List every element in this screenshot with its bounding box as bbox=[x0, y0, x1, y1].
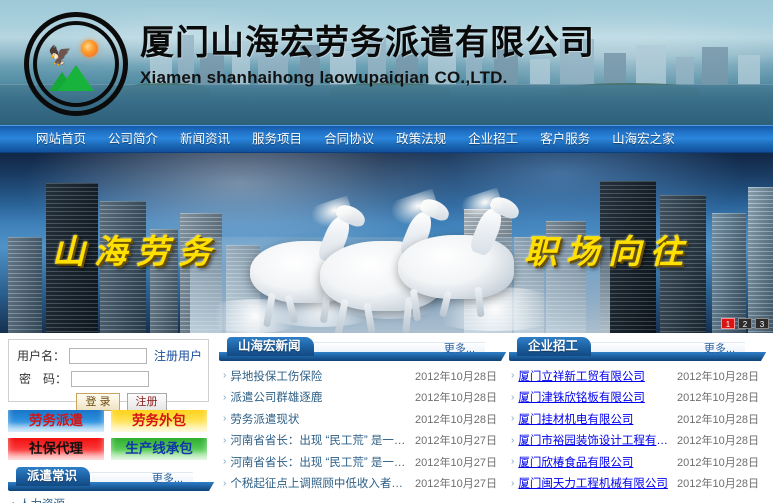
main-navigation: 网站首页 公司简介 新闻资讯 服务项目 合同协议 政策法规 企业招工 客户服务 … bbox=[0, 125, 773, 153]
table-row[interactable]: › 厦门立祥新工贸有限公司 2012年10月28日 bbox=[511, 365, 759, 387]
bullet-arrow-icon: › bbox=[12, 499, 16, 503]
knowledge-section-title: 派遣常识 bbox=[16, 467, 90, 486]
skyline-building bbox=[702, 47, 728, 87]
password-label: 密 码： bbox=[15, 370, 67, 387]
news-item-date: 2012年10月27日 bbox=[415, 432, 497, 448]
banner-building bbox=[8, 237, 42, 333]
bullet-arrow-icon: › bbox=[511, 370, 514, 381]
login-buttons: 登 录 注册 bbox=[15, 393, 202, 411]
table-row[interactable]: › 河南省省长：出现 “民工荒” 是一件好事 2012年10月27日 bbox=[223, 430, 497, 452]
login-panel: 用户名： 注册用户 密 码： 登 录 注册 bbox=[8, 339, 209, 402]
job-item-date: 2012年10月28日 bbox=[677, 368, 759, 384]
banner-slogan-right: 职场向往 bbox=[524, 225, 692, 273]
site-title-en: Xiamen shanhaihong laowupaiqian CO.,LTD. bbox=[140, 66, 595, 90]
table-row[interactable]: › 厦门欣椿食品有限公司 2012年10月28日 bbox=[511, 451, 759, 473]
news-item-date: 2012年10月28日 bbox=[415, 411, 497, 427]
bullet-arrow-icon: › bbox=[223, 392, 226, 403]
job-item-date: 2012年10月28日 bbox=[677, 389, 759, 405]
nav-item-services[interactable]: 服务项目 bbox=[241, 125, 313, 153]
news-section-title: 山海宏新闻 bbox=[227, 337, 314, 356]
main-content: 用户名： 注册用户 密 码： 登 录 注册 劳务派遣 劳务外包 社保代理 生产线… bbox=[0, 333, 773, 503]
nav-item-home[interactable]: 网站首页 bbox=[25, 125, 97, 153]
table-row[interactable]: › 个税起征点上调照顾中低收入者待遇 2012年10月27日 bbox=[223, 473, 497, 495]
eagle-icon: 🦅 bbox=[48, 47, 80, 67]
left-sidebar: 用户名： 注册用户 密 码： 登 录 注册 劳务派遣 劳务外包 社保代理 生产线… bbox=[0, 333, 215, 503]
register-button[interactable]: 注册 bbox=[127, 393, 167, 411]
slide-indicator-2[interactable]: 2 bbox=[738, 318, 752, 329]
service-button-insurance[interactable]: 社保代理 bbox=[8, 438, 104, 460]
news-more-link[interactable]: 更多... bbox=[444, 340, 475, 356]
job-item-title[interactable]: 厦门闽天力工程机械有限公司 bbox=[518, 475, 669, 491]
nav-item-news[interactable]: 新闻资讯 bbox=[169, 125, 241, 153]
knowledge-more-link[interactable]: 更多... bbox=[152, 470, 183, 486]
slide-indicator-1[interactable]: 1 bbox=[721, 318, 735, 329]
knowledge-list: › 人力资源 bbox=[8, 493, 209, 503]
nav-item-recruit[interactable]: 企业招工 bbox=[457, 125, 529, 153]
company-logo: 🦅 bbox=[24, 12, 128, 116]
banner-slogan-left: 山海劳务 bbox=[52, 225, 220, 273]
service-buttons: 劳务派遣 劳务外包 社保代理 生产线承包 bbox=[8, 410, 209, 460]
news-item-title[interactable]: 派遣公司群雄逐鹿 bbox=[230, 389, 407, 405]
news-item-title[interactable]: 劳务派遣现状 bbox=[230, 411, 407, 427]
bullet-arrow-icon: › bbox=[511, 435, 514, 446]
job-item-date: 2012年10月28日 bbox=[677, 411, 759, 427]
table-row[interactable]: › 劳务派遣现状 2012年10月28日 bbox=[223, 408, 497, 430]
service-button-outsourcing[interactable]: 劳务外包 bbox=[111, 410, 207, 432]
username-row: 用户名： 注册用户 bbox=[15, 347, 202, 364]
news-item-title[interactable]: 河南省省长：出现 “民工荒” 是一件好事 bbox=[230, 432, 407, 448]
job-item-title[interactable]: 厦门立祥新工贸有限公司 bbox=[518, 368, 669, 384]
jobs-more-link[interactable]: 更多... bbox=[704, 340, 735, 356]
password-input[interactable] bbox=[71, 371, 149, 387]
bullet-arrow-icon: › bbox=[223, 413, 226, 424]
bullet-arrow-icon: › bbox=[223, 478, 226, 489]
table-row[interactable]: › 河南省省长：出现 “民工荒” 是一件好事 2012年10月27日 bbox=[223, 451, 497, 473]
news-item-date: 2012年10月27日 bbox=[415, 475, 497, 491]
knowledge-item-title: 人力资源 bbox=[19, 499, 65, 503]
knowledge-section-header: 派遣常识 更多... bbox=[8, 467, 209, 491]
jobs-section-title: 企业招工 bbox=[517, 337, 591, 356]
nav-item-policies[interactable]: 政策法规 bbox=[385, 125, 457, 153]
nav-item-contracts[interactable]: 合同协议 bbox=[313, 125, 385, 153]
site-titles: 厦门山海宏劳务派遣有限公司 Xiamen shanhaihong laowupa… bbox=[140, 22, 595, 90]
bullet-arrow-icon: › bbox=[511, 456, 514, 467]
news-item-date: 2012年10月28日 bbox=[415, 368, 497, 384]
job-item-title[interactable]: 厦门市裕园装饰设计工程有限公司 bbox=[518, 432, 669, 448]
list-item[interactable]: › 人力资源 bbox=[12, 496, 205, 503]
bullet-arrow-icon: › bbox=[223, 435, 226, 446]
table-row[interactable]: › 厦门津铢欣铭板有限公司 2012年10月28日 bbox=[511, 387, 759, 409]
skyline-building bbox=[636, 45, 666, 87]
table-row[interactable]: › 异地投保工伤保险 2012年10月28日 bbox=[223, 365, 497, 387]
news-item-date: 2012年10月27日 bbox=[415, 454, 497, 470]
skyline-building bbox=[604, 53, 626, 87]
job-item-title[interactable]: 厦门挂材机电有限公司 bbox=[518, 411, 669, 427]
banner-building bbox=[748, 187, 773, 333]
table-row[interactable]: › 厦门闽天力工程机械有限公司 2012年10月28日 bbox=[511, 473, 759, 495]
sun-icon bbox=[81, 40, 98, 57]
skyline-building bbox=[676, 57, 694, 87]
jobs-list: › 厦门立祥新工贸有限公司 2012年10月28日 › 厦门津铢欣铭板有限公司 … bbox=[509, 363, 761, 494]
job-item-date: 2012年10月28日 bbox=[677, 432, 759, 448]
job-item-title[interactable]: 厦门欣椿食品有限公司 bbox=[518, 454, 669, 470]
banner-building bbox=[712, 213, 746, 333]
password-row: 密 码： bbox=[15, 370, 202, 387]
bullet-arrow-icon: › bbox=[223, 370, 226, 381]
service-button-production[interactable]: 生产线承包 bbox=[111, 438, 207, 460]
page-root: 🦅 厦门山海宏劳务派遣有限公司 Xiamen shanhaihong laowu… bbox=[0, 0, 773, 503]
mountain-icon bbox=[58, 65, 94, 91]
news-item-title[interactable]: 异地投保工伤保险 bbox=[230, 368, 407, 384]
username-input[interactable] bbox=[69, 348, 147, 364]
news-list: › 异地投保工伤保险 2012年10月28日 › 派遣公司群雄逐鹿 2012年1… bbox=[219, 363, 501, 494]
news-item-title[interactable]: 河南省省长：出现 “民工荒” 是一件好事 bbox=[230, 454, 407, 470]
table-row[interactable]: › 派遣公司群雄逐鹿 2012年10月28日 bbox=[223, 387, 497, 409]
site-title-cn: 厦门山海宏劳务派遣有限公司 bbox=[140, 22, 595, 64]
nav-item-family[interactable]: 山海宏之家 bbox=[601, 125, 686, 153]
bullet-arrow-icon: › bbox=[511, 413, 514, 424]
bullet-arrow-icon: › bbox=[223, 456, 226, 467]
bullet-arrow-icon: › bbox=[511, 392, 514, 403]
table-row[interactable]: › 厦门市裕园装饰设计工程有限公司 2012年10月28日 bbox=[511, 430, 759, 452]
news-item-title[interactable]: 个税起征点上调照顾中低收入者待遇 bbox=[230, 475, 407, 491]
username-label: 用户名： bbox=[15, 347, 65, 364]
job-item-date: 2012年10月28日 bbox=[677, 454, 759, 470]
hero-banner: 山海劳务 职场向往 1 2 3 bbox=[0, 153, 773, 333]
job-item-title[interactable]: 厦门津铢欣铭板有限公司 bbox=[518, 389, 669, 405]
news-section: 山海宏新闻 更多... › 异地投保工伤保险 2012年10月28日 › 派遣公… bbox=[215, 333, 505, 503]
jobs-section: 企业招工 更多... › 厦门立祥新工贸有限公司 2012年10月28日 › 厦… bbox=[505, 333, 767, 503]
login-button[interactable]: 登 录 bbox=[76, 393, 119, 411]
site-header: 🦅 厦门山海宏劳务派遣有限公司 Xiamen shanhaihong laowu… bbox=[0, 0, 773, 125]
jobs-section-header: 企业招工 更多... bbox=[509, 337, 761, 361]
service-button-dispatch[interactable]: 劳务派遣 bbox=[8, 410, 104, 432]
news-item-date: 2012年10月28日 bbox=[415, 389, 497, 405]
bullet-arrow-icon: › bbox=[511, 478, 514, 489]
nav-item-about[interactable]: 公司简介 bbox=[97, 125, 169, 153]
job-item-date: 2012年10月28日 bbox=[677, 475, 759, 491]
slide-indicator-3[interactable]: 3 bbox=[755, 318, 769, 329]
skyline-building bbox=[738, 55, 760, 87]
banner-slide-indicators: 1 2 3 bbox=[721, 318, 769, 329]
register-user-link[interactable]: 注册用户 bbox=[154, 347, 202, 364]
horse-illustration bbox=[398, 235, 514, 299]
table-row[interactable]: › 厦门挂材机电有限公司 2012年10月28日 bbox=[511, 408, 759, 430]
logo-inner-circle: 🦅 bbox=[33, 21, 119, 107]
news-section-header: 山海宏新闻 更多... bbox=[219, 337, 501, 361]
nav-item-support[interactable]: 客户服务 bbox=[529, 125, 601, 153]
